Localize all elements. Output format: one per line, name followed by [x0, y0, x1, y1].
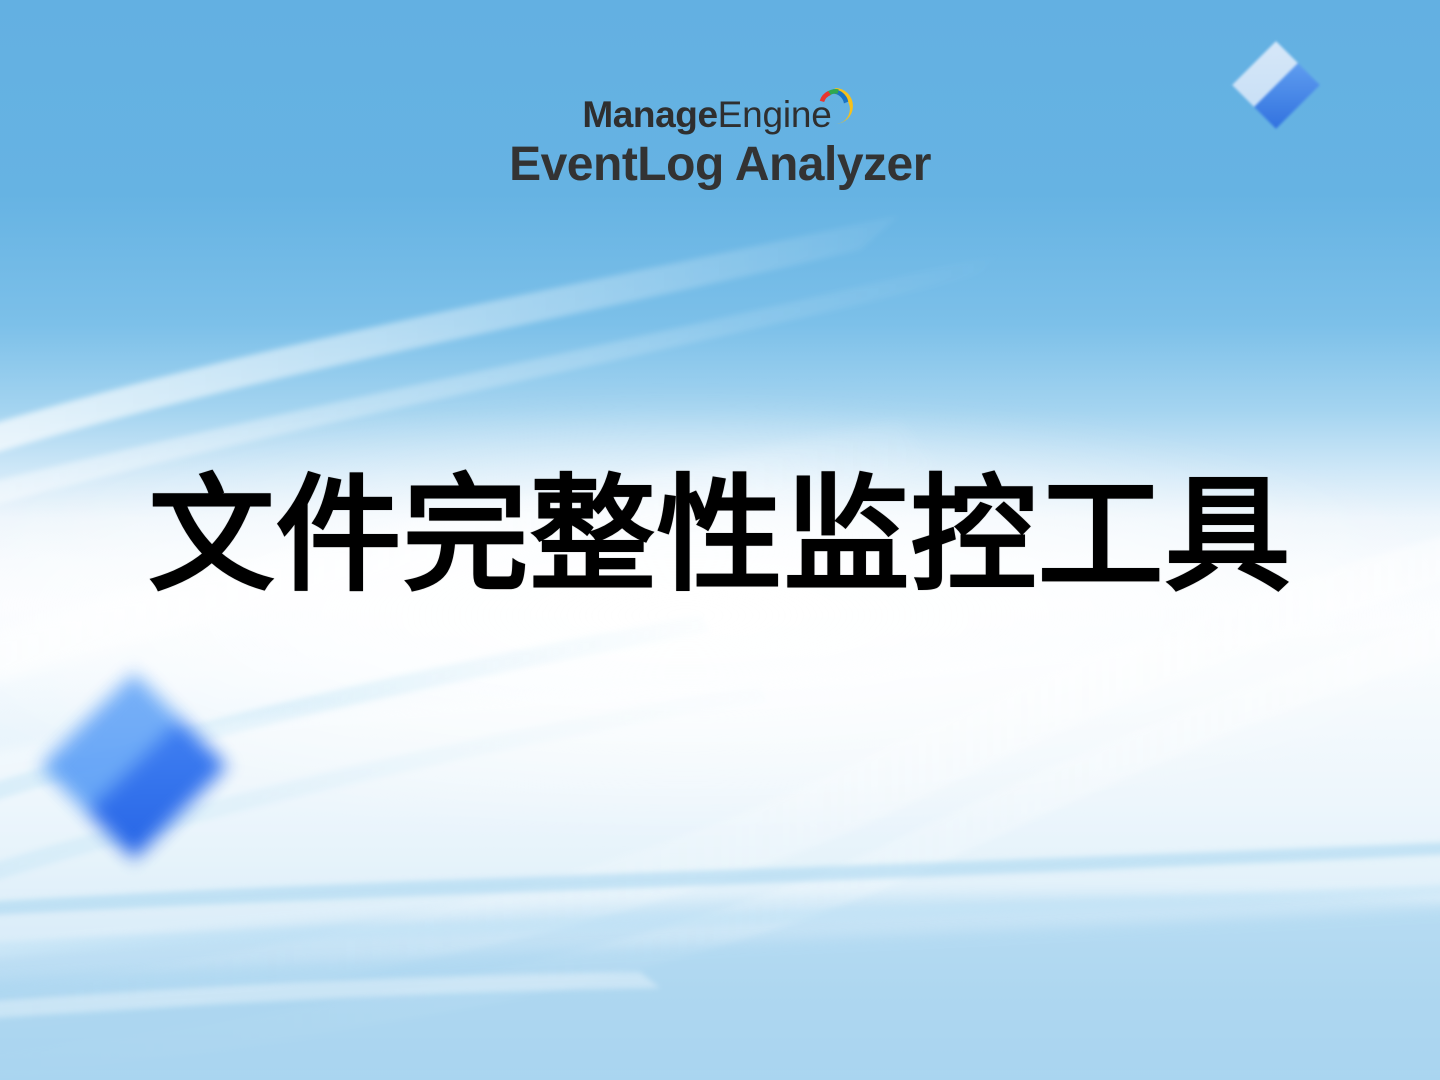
title-slide: Manage Engine EventLog Analyzer 文件完整性监控工…	[0, 0, 1440, 1080]
product-name: EventLog Analyzer	[0, 139, 1440, 192]
manageengine-swoosh-icon	[814, 84, 858, 128]
brand-manage-text: Manage	[582, 96, 717, 133]
manageengine-logo: Manage Engine EventLog Analyzer	[0, 96, 1440, 192]
slide-title: 文件完整性监控工具	[0, 470, 1440, 602]
brand-wordmark: Manage Engine	[582, 96, 857, 133]
